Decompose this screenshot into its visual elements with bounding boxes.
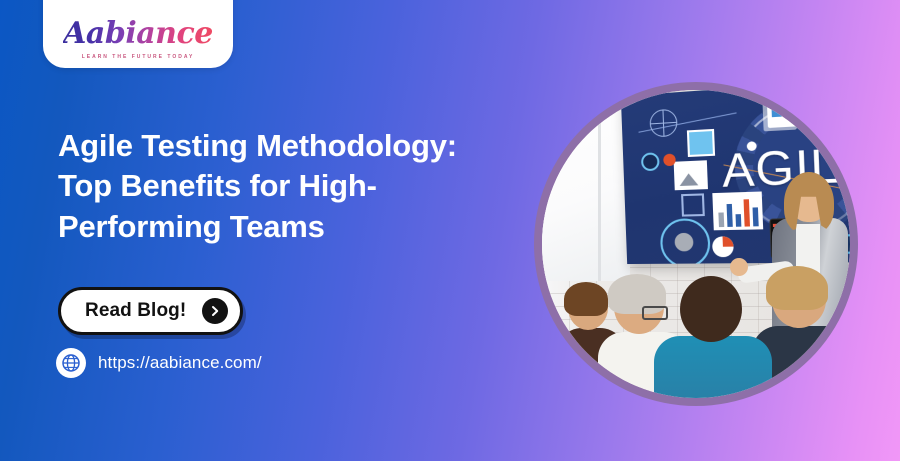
camera-graphic-icon	[813, 90, 836, 100]
read-blog-button[interactable]: Read Blog!	[58, 287, 243, 335]
audience-group	[542, 266, 850, 398]
headline-block: Agile Testing Methodology: Top Benefits …	[58, 126, 510, 247]
globe-icon	[56, 348, 86, 378]
document-graphic-icon	[766, 90, 801, 128]
chevron-right-icon	[202, 298, 228, 324]
pie-chart-graphic-icon	[712, 236, 734, 257]
hero-photo: AGILE	[542, 90, 850, 398]
chip-graphic-icon	[687, 129, 715, 157]
dot-graphic-icon	[641, 152, 660, 171]
blog-promo-banner: Aabiance LEARN THE FUTURE TODAY Agile Te…	[0, 0, 900, 461]
audience-member	[654, 276, 772, 398]
website-url-text: https://aabiance.com/	[98, 353, 262, 373]
brand-wordmark: Aabiance	[63, 19, 213, 49]
brand-tagline: LEARN THE FUTURE TODAY	[82, 54, 195, 60]
read-blog-label: Read Blog!	[85, 300, 186, 322]
hero-photo-ring: AGILE	[534, 82, 858, 406]
image-graphic-icon	[674, 160, 708, 190]
square-graphic-icon	[681, 193, 705, 216]
website-url-row[interactable]: https://aabiance.com/	[56, 348, 262, 378]
bar-chart-graphic-icon	[712, 191, 763, 230]
network-graphic-icon	[660, 218, 711, 264]
brand-logo-card[interactable]: Aabiance LEARN THE FUTURE TODAY	[43, 0, 233, 68]
globe-graphic-icon	[649, 109, 678, 138]
page-title: Agile Testing Methodology: Top Benefits …	[58, 126, 510, 247]
window	[542, 90, 630, 281]
